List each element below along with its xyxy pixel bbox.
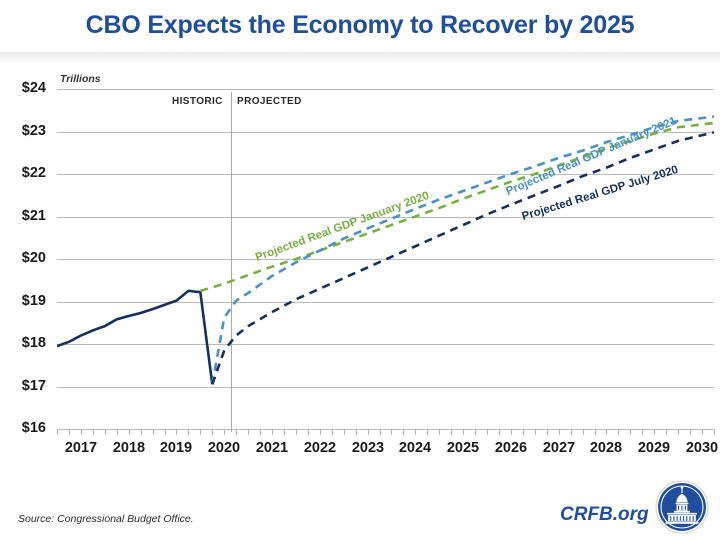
x-axis-tick-label: 2024 [392, 440, 438, 456]
source-note: Source: Congressional Budget Office. [18, 513, 194, 525]
y-axis-tick-label: $21 [0, 208, 46, 224]
x-axis-tick-label: 2025 [440, 440, 486, 456]
y-axis-tick-label: $19 [0, 293, 46, 309]
x-axis-tick [714, 429, 715, 435]
x-axis-tick-label: 2023 [345, 440, 391, 456]
capitol-dome-icon [655, 480, 709, 534]
units-label: Trillions [60, 73, 101, 85]
x-axis-tick-label: 2030 [679, 440, 720, 456]
page-title: CBO Expects the Economy to Recover by 20… [0, 11, 720, 40]
x-axis-tick-label: 2020 [201, 440, 247, 456]
x-axis-tick-label: 2029 [631, 440, 677, 456]
x-axis-tick-label: 2022 [297, 440, 343, 456]
y-axis-tick-label: $22 [0, 165, 46, 181]
y-axis-tick-label: $16 [0, 420, 46, 436]
x-axis-tick-label: 2028 [583, 440, 629, 456]
x-axis-tick-label: 2019 [153, 440, 199, 456]
y-axis-tick-label: $24 [0, 80, 46, 96]
y-axis-tick-label: $17 [0, 378, 46, 394]
x-axis-line [57, 429, 714, 430]
header-divider [0, 52, 720, 64]
x-axis-tick-label: 2026 [488, 440, 534, 456]
x-axis-tick-label: 2018 [106, 440, 152, 456]
x-axis-tick-label: 2021 [249, 440, 295, 456]
x-axis-tick-label: 2027 [536, 440, 582, 456]
brand-label: CRFB.org [560, 504, 649, 526]
series-line [200, 123, 714, 291]
series-line [57, 291, 212, 385]
y-axis-tick-label: $20 [0, 250, 46, 266]
header-band: CBO Expects the Economy to Recover by 20… [0, 0, 720, 52]
slide-canvas: CBO Expects the Economy to Recover by 20… [0, 0, 720, 540]
series-line [212, 132, 714, 384]
x-axis-tick-label: 2017 [58, 440, 104, 456]
y-axis-tick-label: $18 [0, 335, 46, 351]
y-axis-tick-label: $23 [0, 123, 46, 139]
